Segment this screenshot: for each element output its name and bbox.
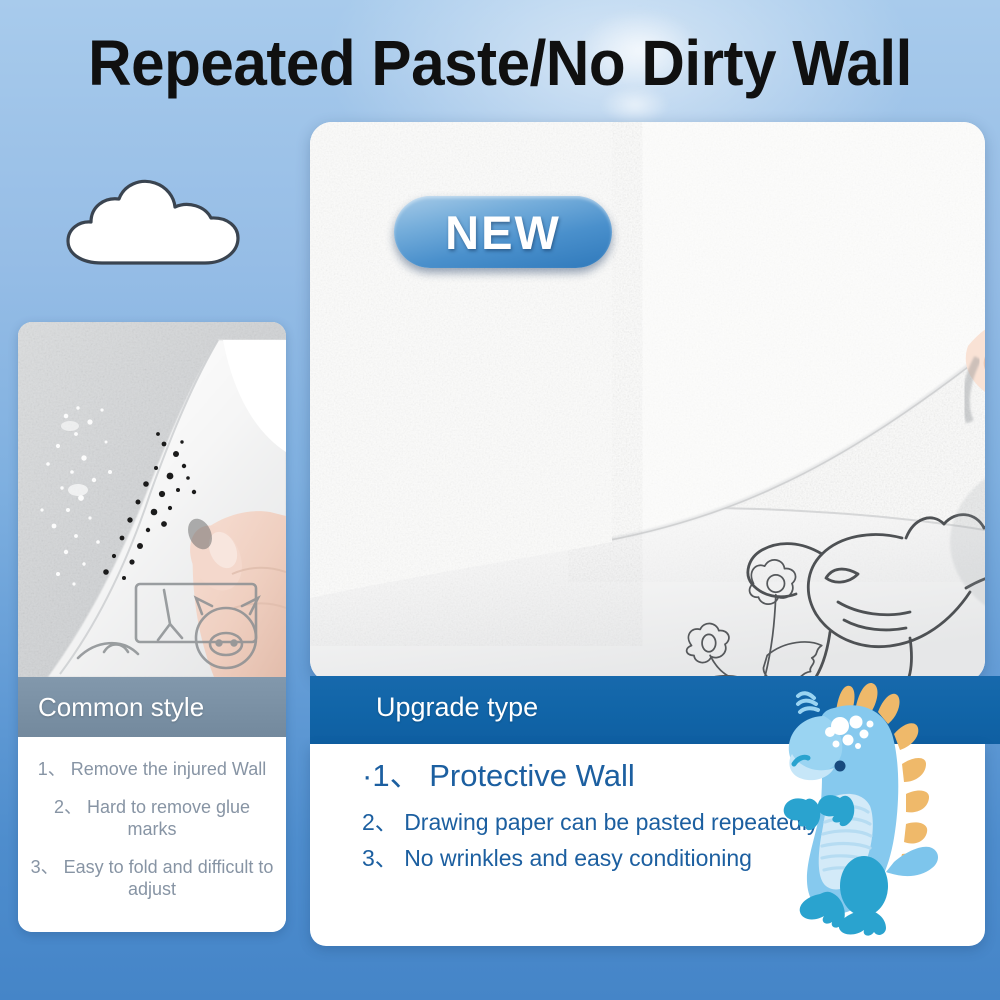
list-item-text: Drawing paper can be pasted repeatedly (404, 809, 818, 835)
list-item-text: No wrinkles and easy conditioning (404, 845, 752, 871)
common-style-list: 1、 Remove the injured Wall 2、 Hard to re… (18, 737, 286, 932)
new-badge-label: NEW (445, 205, 561, 260)
common-style-card: Common style 1、 Remove the injured Wall … (18, 322, 286, 932)
new-badge: NEW (394, 196, 612, 268)
list-item-text: Protective Wall (429, 758, 635, 793)
cloud-icon (60, 175, 245, 270)
page-title: Repeated Paste/No Dirty Wall (30, 30, 970, 97)
list-item-number: ·1、 (362, 758, 421, 793)
list-item-text: Hard to remove glue marks (87, 797, 250, 839)
list-item-number: 3、 (362, 845, 398, 871)
common-style-header: Common style (18, 677, 286, 737)
list-item: 1、 Remove the injured Wall (28, 759, 276, 781)
list-item: 3、 Easy to fold and difficult to adjust (28, 857, 276, 901)
list-item-text: Easy to fold and difficult to adjust (64, 857, 274, 899)
list-item: 2、 Hard to remove glue marks (28, 797, 276, 841)
dinosaur-mascot-icon (778, 672, 978, 942)
list-item-number: 3、 (31, 857, 59, 877)
common-style-photo (18, 322, 286, 677)
upgrade-type-header-label: Upgrade type (376, 692, 538, 723)
list-item-number: 1、 (38, 759, 66, 779)
list-item-text: Remove the injured Wall (71, 759, 266, 779)
list-item-number: 2、 (54, 797, 82, 817)
list-item-number: 2、 (362, 809, 398, 835)
